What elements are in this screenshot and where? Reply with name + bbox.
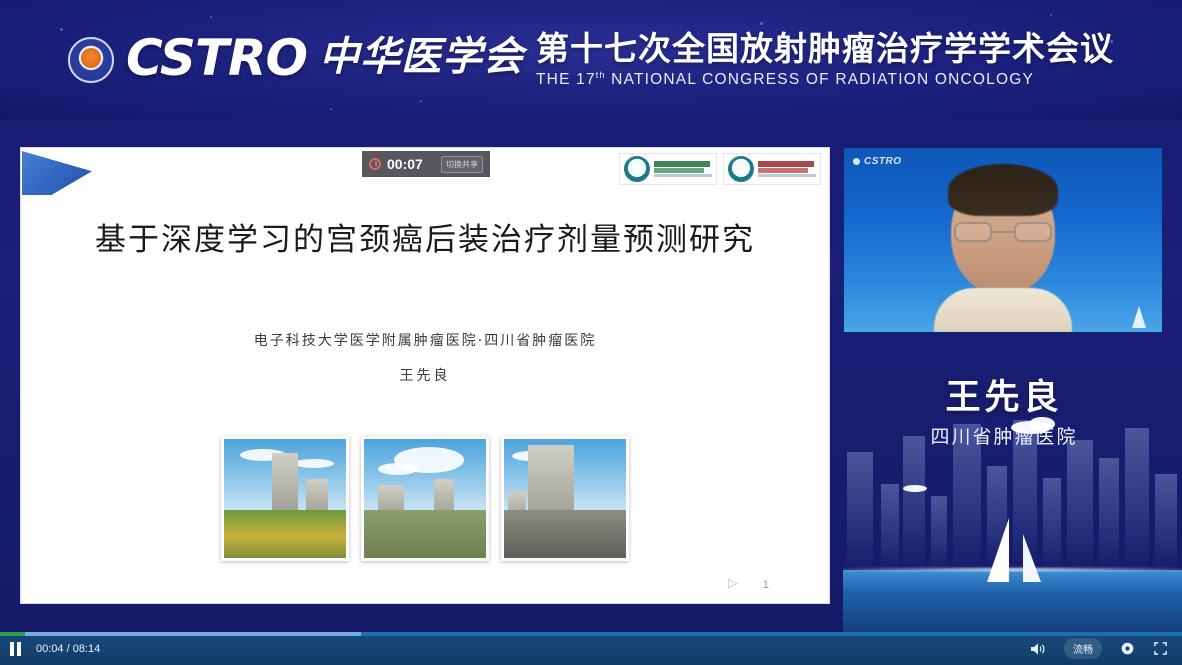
- blue-arrow-decoration-icon: [22, 151, 92, 195]
- uestc-affiliated-cancer-hospital-logo: [619, 153, 717, 185]
- sailboat-icon: [1132, 306, 1146, 328]
- switch-share-button[interactable]: 切换共享: [441, 156, 483, 173]
- gear-icon[interactable]: [1120, 641, 1135, 656]
- timer-clock-icon: [369, 158, 381, 170]
- conference-banner: CSTRO 中华医学会 第十七次全国放射肿瘤治疗学学术会议 THE 17th N…: [0, 0, 1182, 120]
- progress-bar[interactable]: [0, 632, 1182, 636]
- hospital-photo-2: [361, 436, 489, 561]
- video-player-controls: 00:04 / 08:14 流畅: [0, 632, 1182, 665]
- time-display: 00:04 / 08:14: [36, 643, 100, 655]
- shared-slide-area[interactable]: 00:07 切换共享 基于深度学习的宫颈癌后装治疗剂量预测研究 电子科技大学医学…: [20, 147, 830, 604]
- video-player-page: CSTRO 中华医学会 第十七次全国放射肿瘤治疗学学术会议 THE 17th N…: [0, 0, 1182, 665]
- slide-title: 基于深度学习的宫颈癌后装治疗剂量预测研究: [21, 218, 829, 263]
- speaker-video-feed[interactable]: CSTRO: [843, 147, 1163, 333]
- speaker-figure: [939, 164, 1067, 332]
- cloud-icon: [1029, 417, 1055, 431]
- conference-title-en: THE 17th NATIONAL CONGRESS OF RADIATION …: [536, 70, 1034, 89]
- quality-selector[interactable]: 流畅: [1064, 638, 1102, 659]
- hospital-photo-3: [501, 436, 629, 561]
- hospital-photo-1: [221, 436, 349, 561]
- slide-affiliation: 电子科技大学医学附属肿瘤医院·四川省肿瘤医院: [21, 330, 829, 350]
- hospital-logo-mark-icon: [624, 156, 650, 182]
- conference-title-cn: 第十七次全国放射肿瘤治疗学学术会议: [536, 31, 1114, 68]
- presentation-timer-badge: 00:07 切换共享: [362, 151, 490, 177]
- volume-icon[interactable]: [1030, 642, 1046, 656]
- hospital-photo-row: [21, 436, 829, 561]
- cloud-icon: [903, 485, 927, 492]
- mouse-cursor-icon: ▷: [728, 575, 738, 591]
- cstro-watermark-icon: CSTRO: [853, 156, 902, 167]
- pause-icon[interactable]: [10, 642, 24, 656]
- glasses-icon: [954, 222, 1052, 244]
- cityscape-icon: [843, 417, 1182, 632]
- slide-page-number: 1: [763, 579, 769, 591]
- sailboat-icon: [981, 512, 1045, 584]
- slide-author: 王先良: [21, 365, 829, 385]
- hospital-logo-mark-icon: [728, 156, 754, 182]
- cstro-emblem-icon: [68, 37, 114, 83]
- fullscreen-icon[interactable]: [1153, 641, 1168, 656]
- cma-calligraphy-text: 中华医学会: [319, 37, 524, 77]
- slide-logo-group: [619, 153, 821, 185]
- speaker-name: 王先良: [843, 369, 1165, 420]
- sichuan-cancer-hospital-logo: [723, 153, 821, 185]
- cstro-wordmark: CSTRO: [126, 33, 307, 83]
- timer-value: 00:07: [387, 156, 423, 172]
